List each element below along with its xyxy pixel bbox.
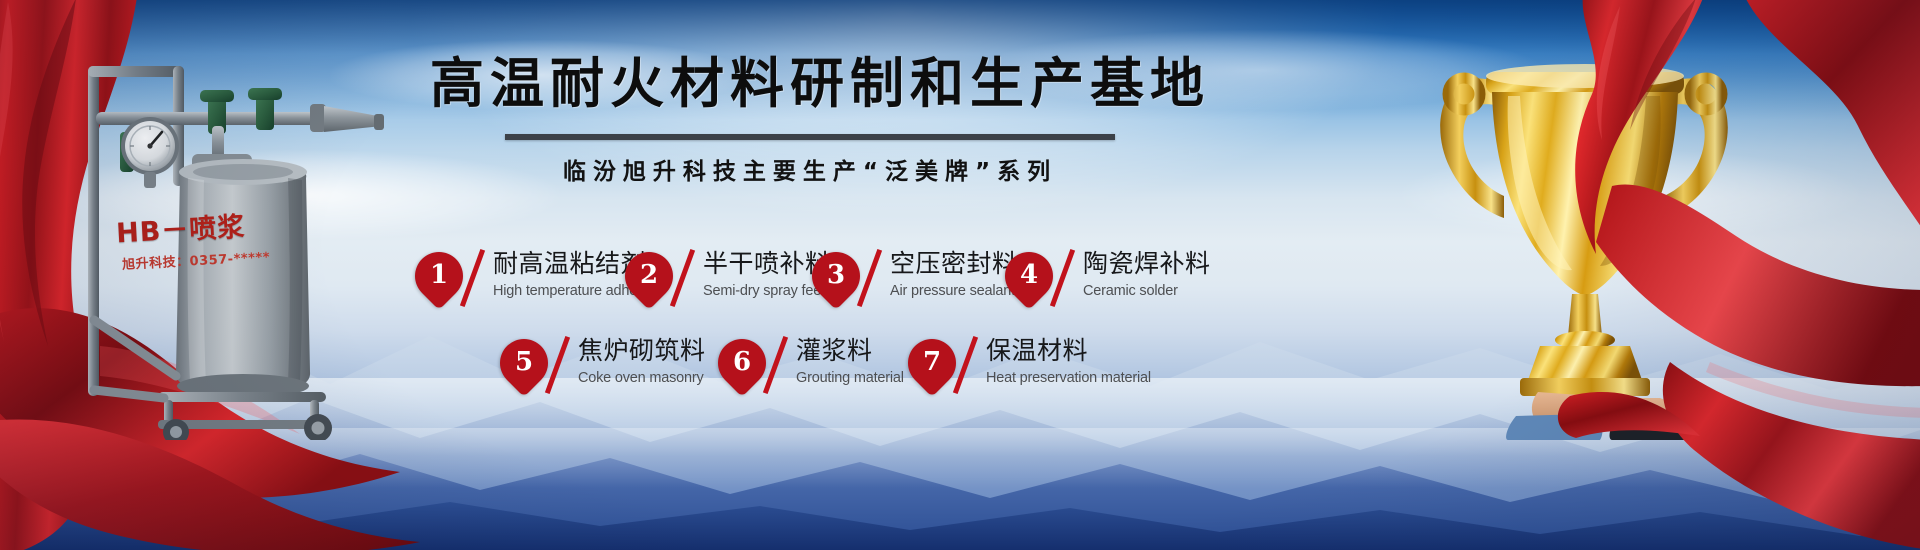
item-labels: 保温材料 Heat preservation material xyxy=(986,337,1151,386)
badge-number: 6 xyxy=(718,339,766,387)
item-title-en: Coke oven masonry xyxy=(578,370,706,386)
red-slash-icon xyxy=(856,250,882,306)
item-title-en: Heat preservation material xyxy=(986,370,1151,386)
red-slash-icon xyxy=(762,337,788,393)
number-badge-icon: 1 xyxy=(415,252,463,300)
badge-number: 3 xyxy=(812,252,860,300)
number-badge-icon: 3 xyxy=(812,252,860,300)
item-labels: 灌浆料 Grouting material xyxy=(796,337,904,386)
number-badge-icon: 5 xyxy=(500,339,548,387)
number-badge-icon: 4 xyxy=(1005,252,1053,300)
item-title-en: Grouting material xyxy=(796,370,904,386)
badge-number: 2 xyxy=(625,252,673,300)
promotional-banner: HB－喷浆 旭升科技：0357-***** xyxy=(0,0,1920,550)
product-list: 1 耐高温粘结剂 High temperature adhesive 2 半干喷… xyxy=(0,0,1920,550)
item-labels: 陶瓷焊补料 Ceramic solder xyxy=(1083,250,1211,299)
red-slash-icon xyxy=(952,337,978,393)
list-item[interactable]: 7 保温材料 Heat preservation material xyxy=(908,337,1151,393)
badge-number: 1 xyxy=(415,252,463,300)
red-slash-icon xyxy=(1049,250,1075,306)
list-item[interactable]: 4 陶瓷焊补料 Ceramic solder xyxy=(1005,250,1211,306)
list-item[interactable]: 2 半干喷补料 Semi-dry spray feed xyxy=(625,250,831,306)
item-title-en: Air pressure sealant xyxy=(890,283,1018,299)
item-labels: 空压密封料 Air pressure sealant xyxy=(890,250,1018,299)
list-item[interactable]: 5 焦炉砌筑料 Coke oven masonry xyxy=(500,337,706,393)
list-item[interactable]: 6 灌浆料 Grouting material xyxy=(718,337,904,393)
item-title-cn: 空压密封料 xyxy=(890,250,1018,278)
item-title-cn: 灌浆料 xyxy=(796,337,904,365)
item-title-en: Ceramic solder xyxy=(1083,283,1211,299)
item-title-cn: 焦炉砌筑料 xyxy=(578,337,706,365)
item-labels: 焦炉砌筑料 Coke oven masonry xyxy=(578,337,706,386)
red-slash-icon xyxy=(459,250,485,306)
red-slash-icon xyxy=(544,337,570,393)
number-badge-icon: 6 xyxy=(718,339,766,387)
red-slash-icon xyxy=(669,250,695,306)
item-title-cn: 保温材料 xyxy=(986,337,1151,365)
item-title-cn: 陶瓷焊补料 xyxy=(1083,250,1211,278)
badge-number: 4 xyxy=(1005,252,1053,300)
badge-number: 7 xyxy=(908,339,956,387)
number-badge-icon: 2 xyxy=(625,252,673,300)
list-item[interactable]: 3 空压密封料 Air pressure sealant xyxy=(812,250,1018,306)
number-badge-icon: 7 xyxy=(908,339,956,387)
badge-number: 5 xyxy=(500,339,548,387)
